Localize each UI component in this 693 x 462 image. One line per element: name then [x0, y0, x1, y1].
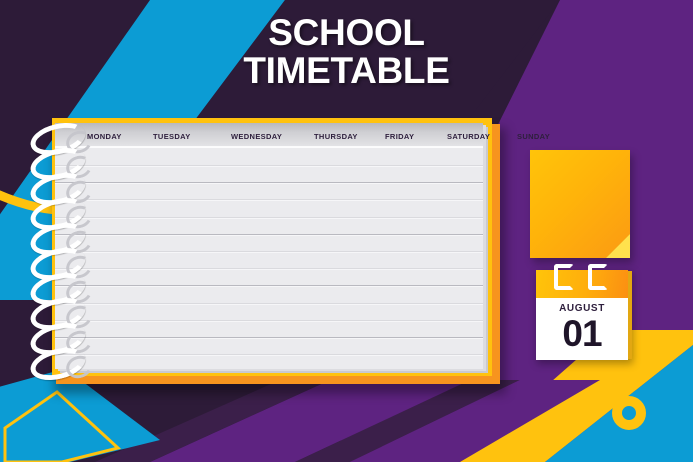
ring-shape [612, 396, 646, 430]
timetable-rows [55, 149, 483, 369]
timetable-row-highlight [55, 200, 483, 201]
day-header-friday: FRIDAY [385, 132, 414, 141]
spiral-binding [30, 122, 100, 380]
day-header-sunday: SUNDAY [517, 132, 550, 141]
timetable-notebook: MONDAYTUESDAYWEDNESDAYTHURSDAYFRIDAYSATU… [48, 118, 500, 384]
day-header-row: MONDAYTUESDAYWEDNESDAYTHURSDAYFRIDAYSATU… [55, 123, 483, 149]
calendar-clip-right [588, 264, 608, 290]
timetable-row-highlight [55, 218, 483, 219]
sticky-note [530, 150, 630, 258]
calendar-header [536, 270, 628, 298]
timetable-row-highlight [55, 321, 483, 322]
day-header-thursday: THURSDAY [314, 132, 358, 141]
timetable-row-highlight [55, 338, 483, 339]
timetable-row-highlight [55, 235, 483, 236]
page-title: SCHOOL TIMETABLE [0, 14, 693, 90]
day-header-tuesday: TUESDAY [153, 132, 191, 141]
sticky-note-curl [606, 234, 630, 258]
poster-canvas: SCHOOL TIMETABLE AUGUST 01 [0, 0, 693, 462]
timetable-row-highlight [55, 304, 483, 305]
timetable-row-highlight [55, 269, 483, 270]
sticky-note-body [530, 150, 630, 258]
calendar-day-number: 01 [536, 314, 628, 354]
timetable-row-highlight [55, 166, 483, 167]
timetable-row-highlight [55, 286, 483, 287]
timetable-row-highlight [55, 183, 483, 184]
day-header-wednesday: WEDNESDAY [231, 132, 282, 141]
calendar-back-sheet-1: AUGUST 01 [536, 270, 628, 358]
day-header-saturday: SATURDAY [447, 132, 490, 141]
timetable-row-highlight [55, 355, 483, 356]
calendar-widget[interactable]: AUGUST 01 [532, 268, 628, 360]
timetable-row-highlight [55, 252, 483, 253]
calendar-clip-left [554, 264, 574, 290]
